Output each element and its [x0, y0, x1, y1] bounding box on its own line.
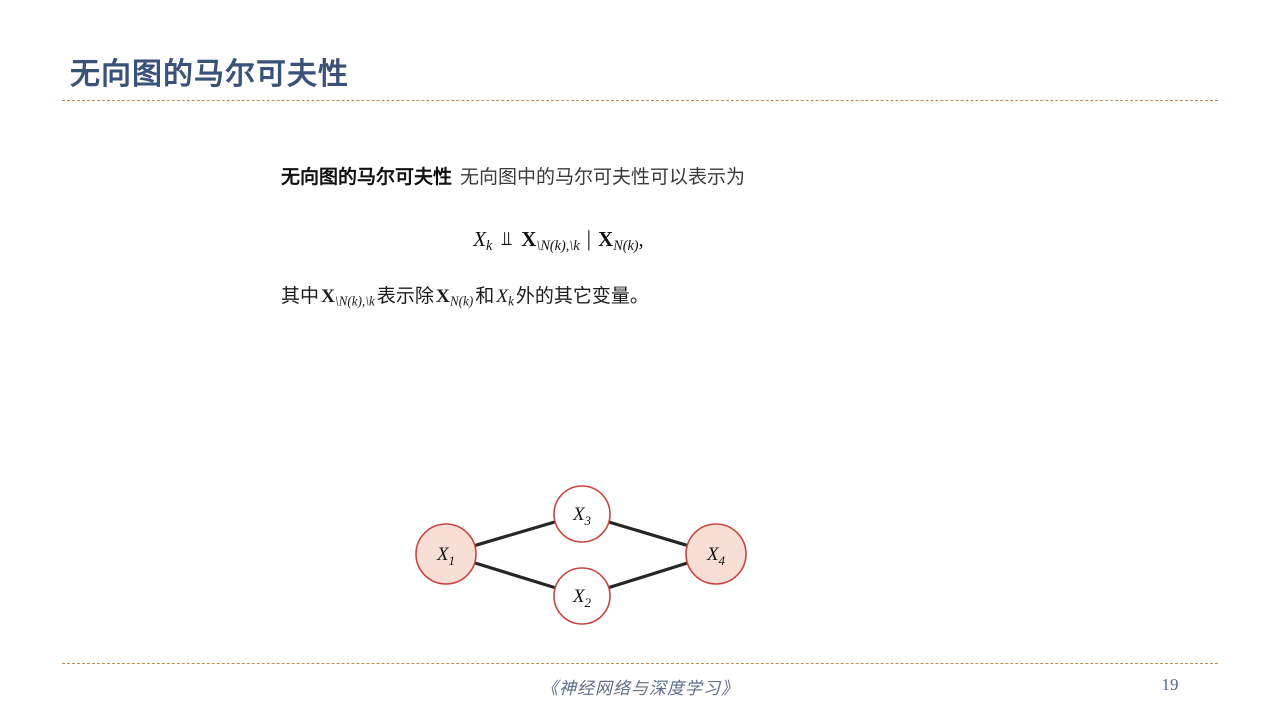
graph-edge-X1-X3: [475, 522, 555, 546]
graph-node-X3[interactable]: X3: [554, 486, 610, 542]
definition-term: 无向图的马尔可夫性: [281, 167, 452, 188]
explanation-line: 其中X\N(k),\k表示除XN(k)和Xk外的其它变量。: [281, 282, 981, 317]
formula-rhs-sub: N(k): [613, 238, 638, 254]
explanation-var1-sub: \N(k),\k: [335, 294, 375, 309]
graph-node-X2[interactable]: X2: [554, 568, 610, 624]
explanation-var2: X: [436, 286, 450, 307]
conditional-bar: |: [580, 226, 598, 251]
independence-symbol: ⫫: [492, 227, 521, 250]
formula-mid-var: X: [521, 227, 536, 251]
slide-canvas: 无向图的马尔可夫性 无向图的马尔可夫性无向图中的马尔可夫性可以表示为 Xk⫫X\…: [0, 0, 1280, 720]
formula-lhs-var: X: [473, 227, 486, 251]
graph-edge-X3-X4: [609, 522, 687, 545]
explanation-var3-sub: k: [508, 294, 514, 309]
footer-book-title: 《神经网络与深度学习》: [0, 674, 1280, 699]
formula-mid-sub: \N(k),\k: [536, 238, 579, 254]
title-divider: [62, 100, 1218, 101]
explanation-mid2: 和: [475, 286, 494, 307]
formula-trailing-comma: ,: [639, 227, 644, 251]
definition-line: 无向图的马尔可夫性无向图中的马尔可夫性可以表示为: [281, 163, 981, 193]
formula-rhs-var: X: [598, 227, 613, 251]
undirected-graph-figure: X1X3X2X4: [400, 468, 770, 643]
graph-svg: X1X3X2X4: [400, 468, 770, 643]
explanation-mid1: 表示除: [377, 286, 434, 307]
page-number: 19: [1140, 675, 1200, 695]
graph-node-X1[interactable]: X1: [416, 524, 476, 584]
explanation-var2-sub: N(k): [450, 294, 473, 309]
graph-nodes: X1X3X2X4: [416, 486, 746, 624]
explanation-suffix: 外的其它变量。: [516, 286, 649, 307]
definition-rest: 无向图中的马尔可夫性可以表示为: [460, 167, 745, 188]
explanation-var3: X: [496, 286, 508, 307]
graph-edge-X1-X2: [475, 563, 556, 588]
markov-property-formula: Xk⫫X\N(k),\k|XN(k),: [281, 226, 836, 255]
graph-node-X4[interactable]: X4: [686, 524, 746, 584]
content-body: 无向图的马尔可夫性无向图中的马尔可夫性可以表示为 Xk⫫X\N(k),\k|XN…: [281, 163, 981, 317]
graph-edge-X2-X4: [609, 563, 688, 588]
footer-divider: [62, 663, 1218, 664]
explanation-var1: X: [321, 286, 335, 307]
explanation-prefix: 其中: [281, 286, 319, 307]
page-title: 无向图的马尔可夫性: [70, 55, 349, 95]
